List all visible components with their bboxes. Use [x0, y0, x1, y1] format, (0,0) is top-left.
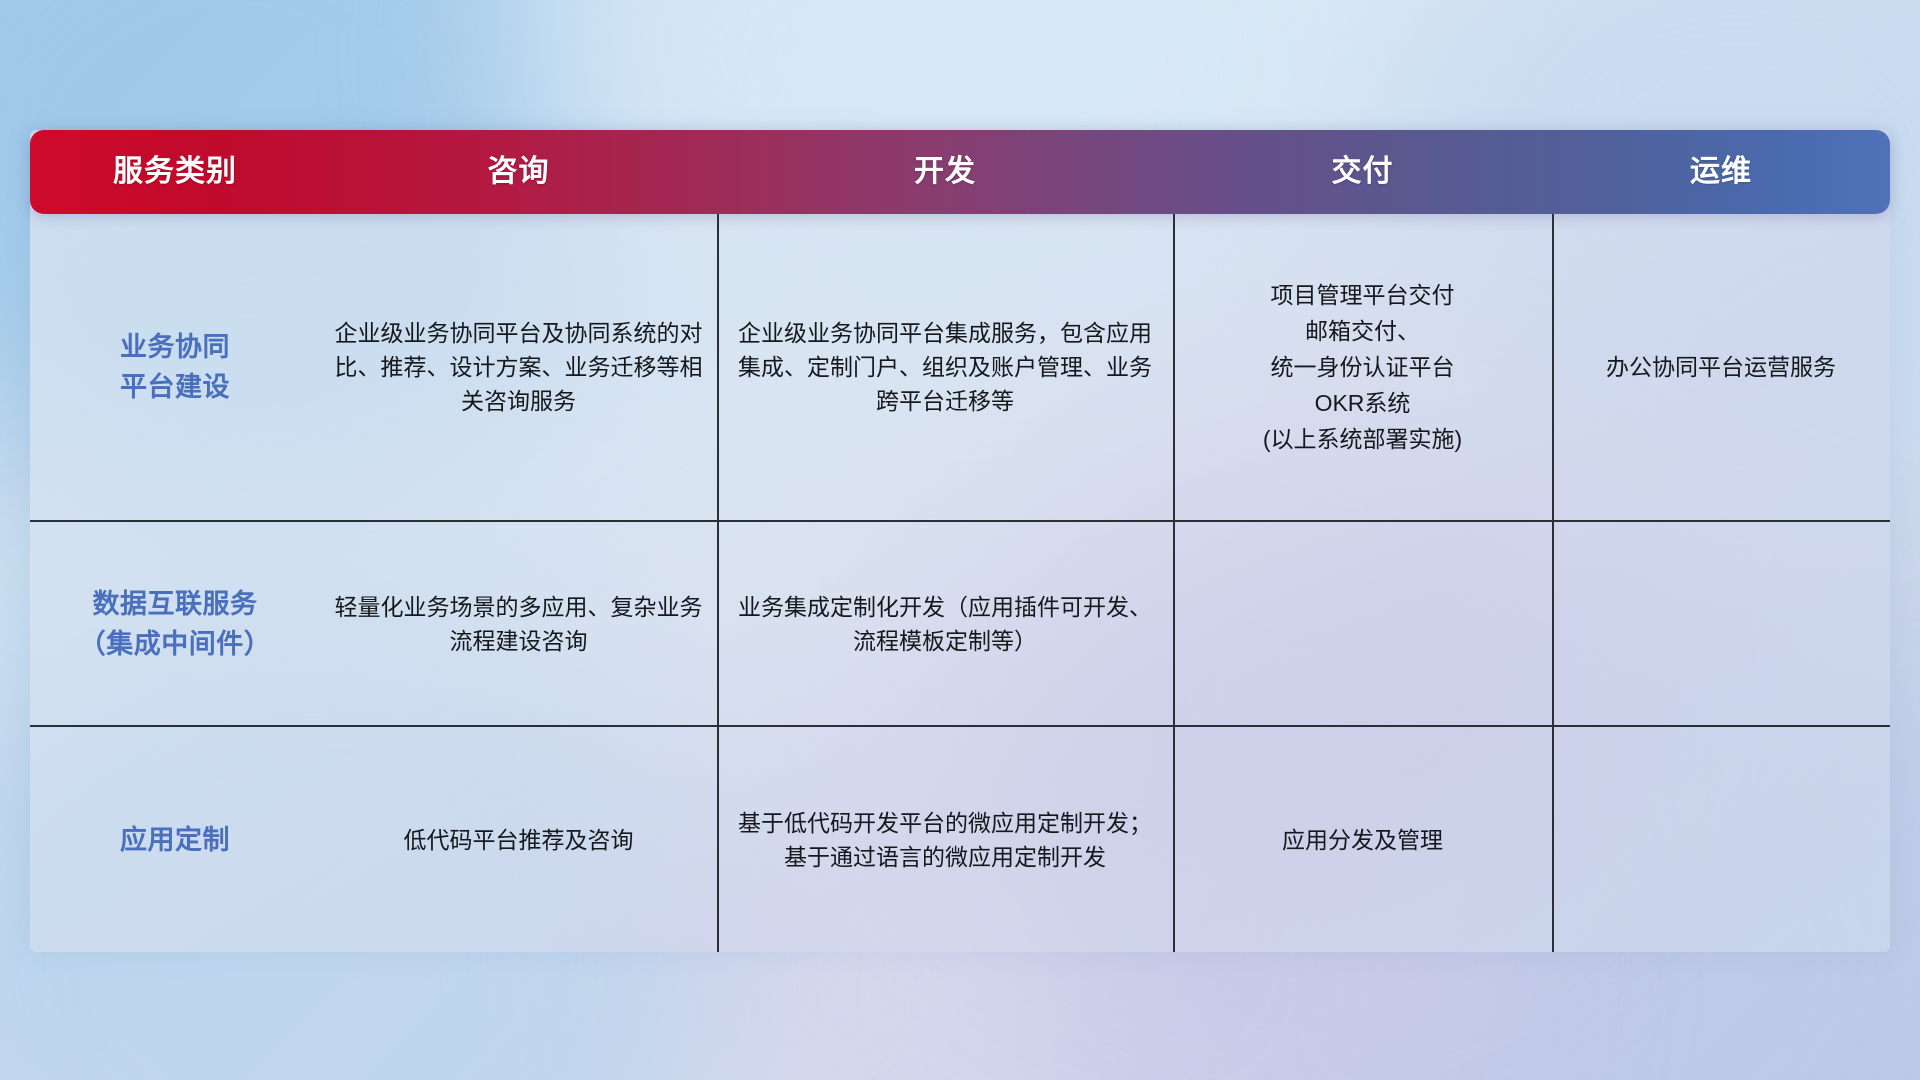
- cell-development: 基于低代码开发平台的微应用定制开发； 基于通过语言的微应用定制开发: [717, 727, 1173, 952]
- row-category-text: 应用定制: [120, 820, 230, 860]
- cell-text: 低代码平台推荐及咨询: [404, 823, 634, 857]
- table-header-row: 服务类别 咨询 开发 交付 运维: [30, 130, 1890, 214]
- cell-consulting: 轻量化业务场景的多应用、复杂业务流程建设咨询: [320, 522, 717, 725]
- cell-text: 办公协同平台运营服务: [1606, 350, 1836, 384]
- cell-development: 业务集成定制化开发（应用插件可开发、流程模板定制等）: [717, 522, 1173, 725]
- cell-text: 企业级业务协同平台集成服务，包含应用集成、定制门户、组织及账户管理、业务跨平台迁…: [731, 316, 1159, 418]
- cell-operations: [1552, 727, 1890, 952]
- column-divider: [1552, 214, 1554, 952]
- column-header-development: 开发: [717, 130, 1173, 214]
- row-category-label: 业务协同 平台建设: [30, 214, 320, 520]
- column-header-operations: 运维: [1552, 130, 1890, 214]
- table-row: 业务协同 平台建设 企业级业务协同平台及协同系统的对比、推荐、设计方案、业务迁移…: [30, 214, 1890, 520]
- column-header-consulting: 咨询: [320, 130, 717, 214]
- row-category-label: 数据互联服务 （集成中间件）: [30, 522, 320, 725]
- cell-text: 应用分发及管理: [1282, 823, 1443, 857]
- cell-delivery: 项目管理平台交付 邮箱交付、 统一身份认证平台 OKR系统 (以上系统部署实施): [1173, 214, 1552, 520]
- cell-consulting: 企业级业务协同平台及协同系统的对比、推荐、设计方案、业务迁移等相关咨询服务: [320, 214, 717, 520]
- cell-operations: 办公协同平台运营服务: [1552, 214, 1890, 520]
- column-divider: [717, 214, 719, 952]
- column-header-delivery: 交付: [1173, 130, 1552, 214]
- cell-development: 企业级业务协同平台集成服务，包含应用集成、定制门户、组织及账户管理、业务跨平台迁…: [717, 214, 1173, 520]
- row-divider: [30, 725, 1890, 727]
- table-body: 业务协同 平台建设 企业级业务协同平台及协同系统的对比、推荐、设计方案、业务迁移…: [30, 214, 1890, 952]
- row-divider: [30, 520, 1890, 522]
- row-category-text: 业务协同 平台建设: [120, 327, 230, 407]
- cell-text: 企业级业务协同平台及协同系统的对比、推荐、设计方案、业务迁移等相关咨询服务: [334, 316, 703, 418]
- table-row: 应用定制 低代码平台推荐及咨询 基于低代码开发平台的微应用定制开发； 基于通过语…: [30, 727, 1890, 952]
- cell-delivery: 应用分发及管理: [1173, 727, 1552, 952]
- cell-consulting: 低代码平台推荐及咨询: [320, 727, 717, 952]
- column-header-category: 服务类别: [30, 130, 320, 214]
- row-category-text: 数据互联服务 （集成中间件）: [79, 584, 272, 664]
- cell-operations: [1552, 522, 1890, 725]
- cell-text: 项目管理平台交付 邮箱交付、 统一身份认证平台 OKR系统 (以上系统部署实施): [1263, 277, 1462, 457]
- table-row: 数据互联服务 （集成中间件） 轻量化业务场景的多应用、复杂业务流程建设咨询 业务…: [30, 522, 1890, 725]
- cell-text: 基于低代码开发平台的微应用定制开发； 基于通过语言的微应用定制开发: [738, 806, 1152, 874]
- row-category-label: 应用定制: [30, 727, 320, 952]
- cell-text: 轻量化业务场景的多应用、复杂业务流程建设咨询: [334, 590, 703, 658]
- cell-text: 业务集成定制化开发（应用插件可开发、流程模板定制等）: [731, 590, 1159, 658]
- column-divider: [1173, 214, 1175, 952]
- cell-delivery: [1173, 522, 1552, 725]
